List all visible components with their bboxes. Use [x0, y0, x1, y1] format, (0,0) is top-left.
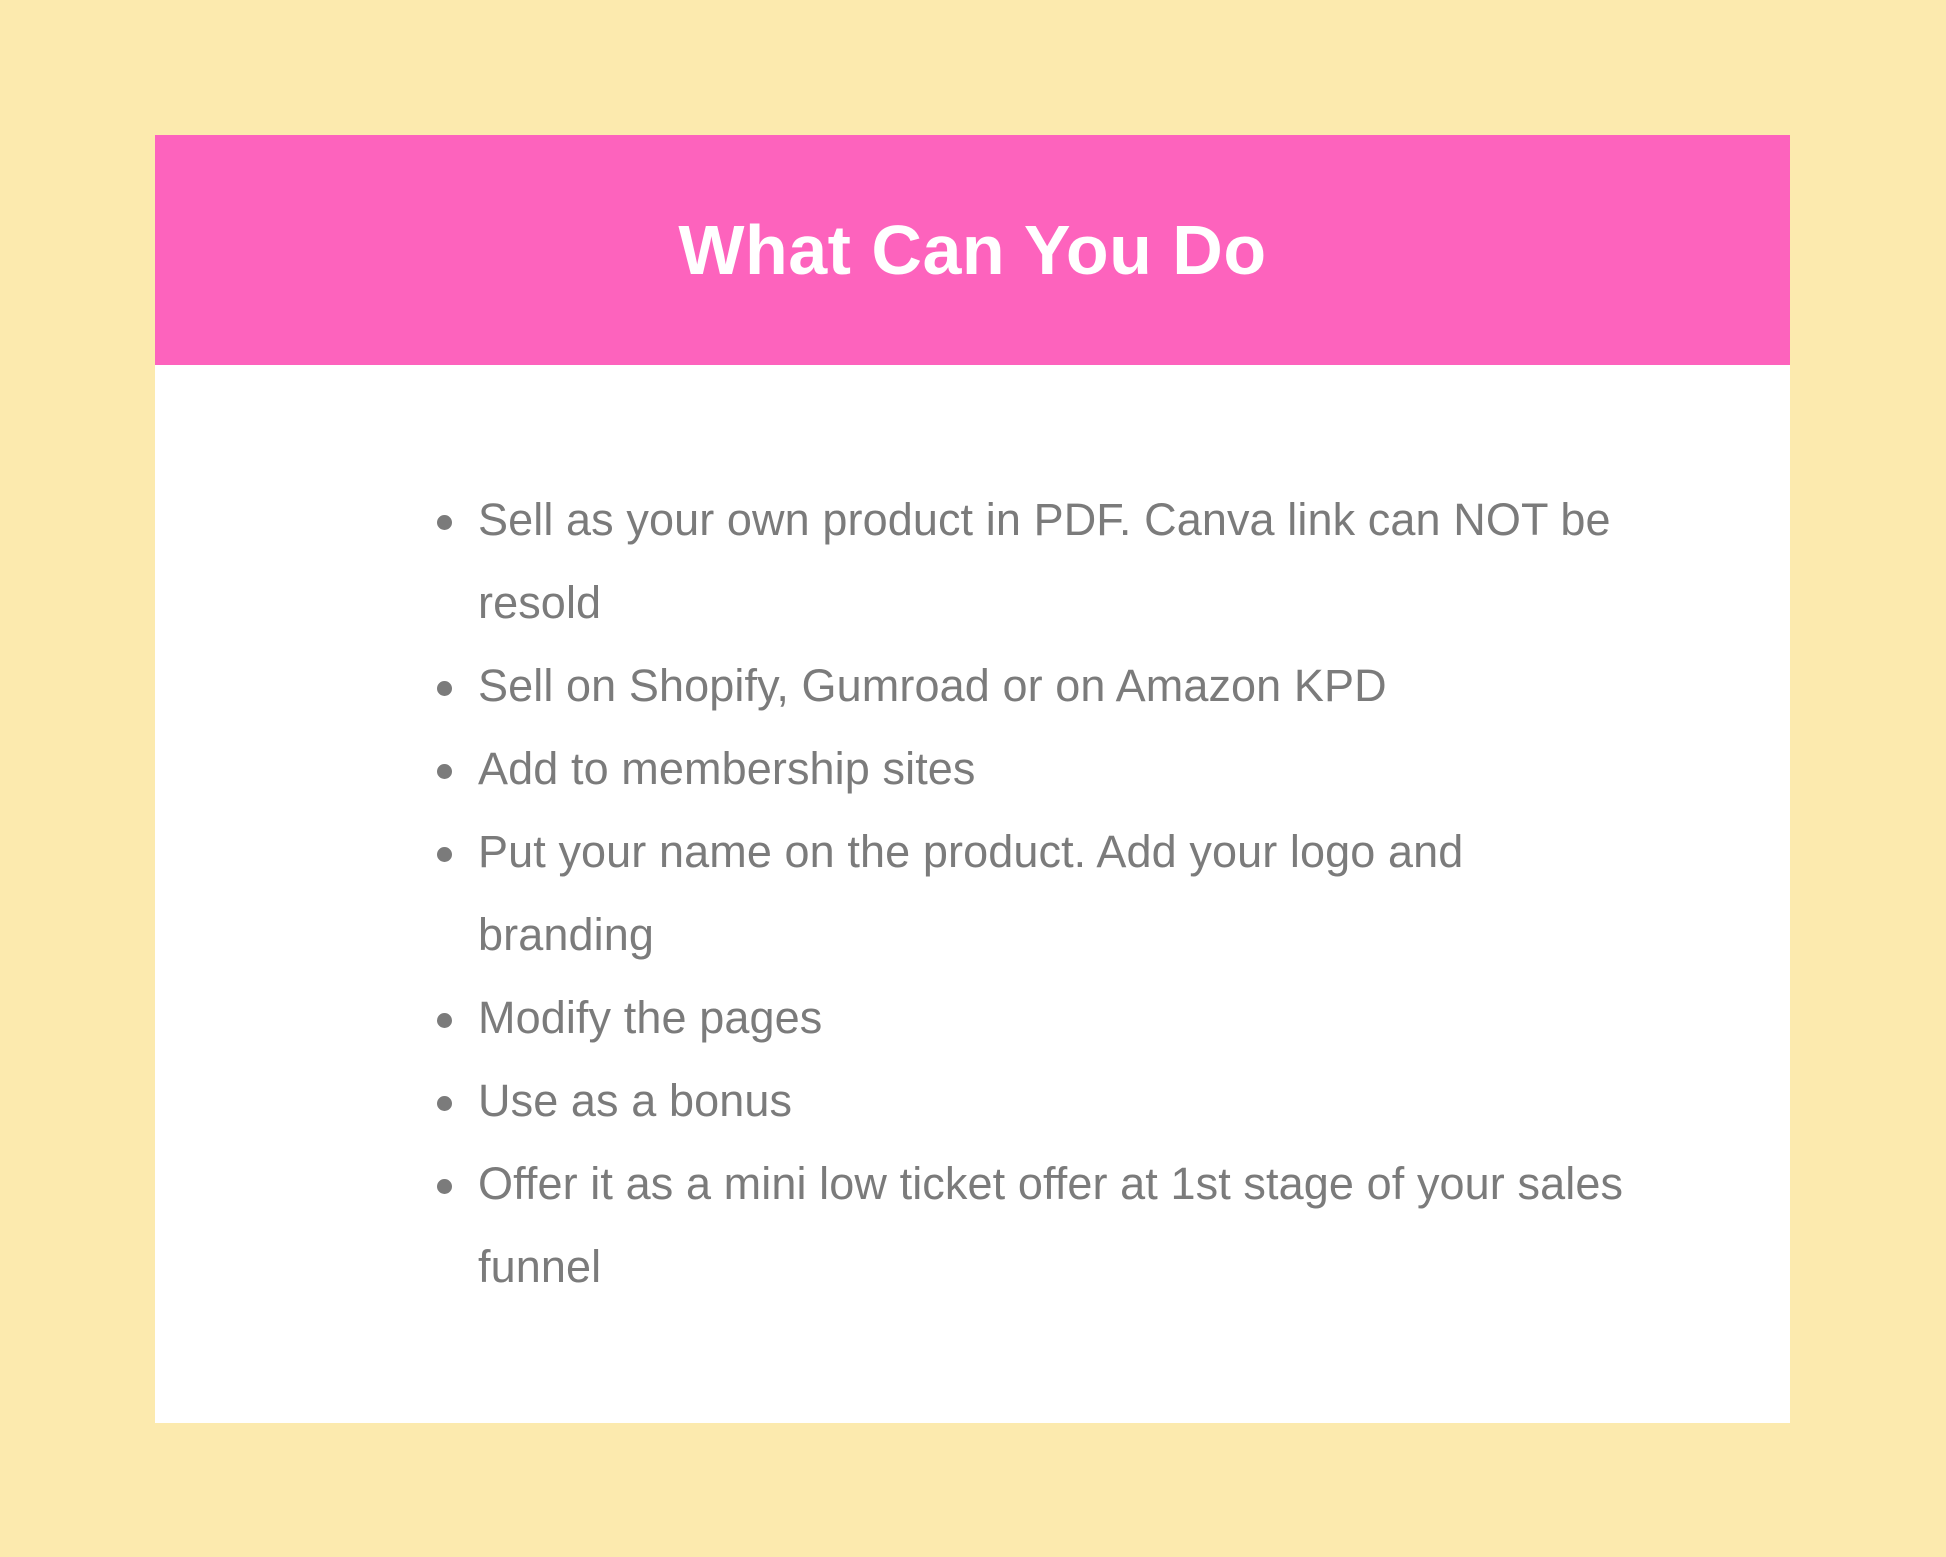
list-item-label: Add to membership sites — [478, 727, 1630, 810]
list-item: Use as a bonus — [430, 1059, 1630, 1142]
list-item-label: Sell as your own product in PDF. Canva l… — [478, 478, 1630, 644]
card-body: Sell as your own product in PDF. Canva l… — [155, 365, 1790, 1423]
content-card: What Can You Do Sell as your own product… — [155, 135, 1790, 1423]
card-header-banner: What Can You Do — [155, 135, 1790, 365]
slide-canvas: What Can You Do Sell as your own product… — [0, 0, 1946, 1557]
list-item: Sell on Shopify, Gumroad or on Amazon KP… — [430, 644, 1630, 727]
list-item: Modify the pages — [430, 976, 1630, 1059]
list-item: Sell as your own product in PDF. Canva l… — [430, 478, 1630, 644]
list-item: Put your name on the product. Add your l… — [430, 810, 1630, 976]
list-item-label: Sell on Shopify, Gumroad or on Amazon KP… — [478, 644, 1630, 727]
page-title: What Can You Do — [678, 215, 1266, 285]
list-item-label: Offer it as a mini low ticket offer at 1… — [478, 1142, 1630, 1308]
list-item: Offer it as a mini low ticket offer at 1… — [430, 1142, 1630, 1308]
list-item-label: Modify the pages — [478, 976, 1630, 1059]
list-item: Add to membership sites — [430, 727, 1630, 810]
permissions-bullet-list: Sell as your own product in PDF. Canva l… — [430, 478, 1630, 1308]
list-item-label: Put your name on the product. Add your l… — [478, 810, 1630, 976]
list-item-label: Use as a bonus — [478, 1059, 1630, 1142]
